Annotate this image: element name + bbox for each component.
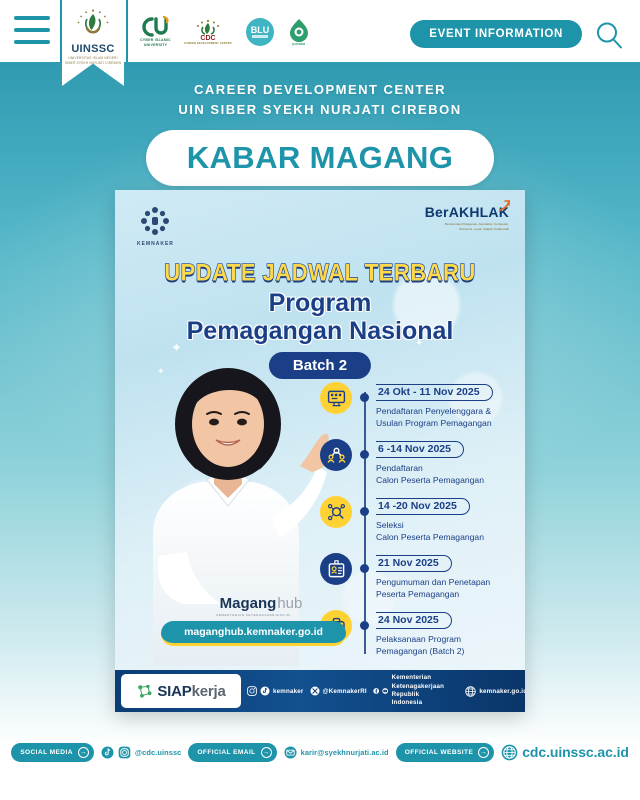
poster-footer-strip: SIAPkerja kemnak bbox=[115, 670, 525, 712]
partner-logo-row: CYBER ISLAMICUNIVERSITY CDC CAREER DEVEL… bbox=[140, 14, 310, 50]
id-card-icon-glyph bbox=[327, 560, 346, 579]
candidate-search-icon bbox=[320, 496, 352, 528]
sparkle-icon: ✦ bbox=[171, 340, 182, 356]
timeline-description: Pendaftaran Penyelenggara & Usulan Progr… bbox=[376, 405, 520, 429]
siap-light: kerja bbox=[192, 683, 226, 700]
poster-image[interactable]: KEMNAKER BerAKHLAK Berorientasi Pelayana… bbox=[115, 190, 525, 712]
logo-caption: CYBER ISLAMICUNIVERSITY bbox=[140, 38, 171, 48]
blu-icon: BLU bbox=[245, 17, 275, 47]
timeline-item: 24 Okt - 11 Nov 2025 Pendaftaran Penyele… bbox=[320, 382, 520, 434]
timeline-item: 14 -20 Nov 2025 Seleksi Calon Peserta Pe… bbox=[320, 496, 520, 548]
maganghub-url-pill[interactable]: maganghub.kemnaker.go.id bbox=[161, 621, 346, 646]
maganghub-logo: Magang hub bbox=[161, 595, 346, 612]
org-line-2: UIN SIBER SYEKH NURJATI CIREBON bbox=[0, 100, 640, 120]
maganghub-mark-icon bbox=[205, 597, 219, 611]
timeline-item: 24 Nov 2025 Pelaksanaan Program Pemagang… bbox=[320, 610, 520, 662]
tiktok-icon bbox=[101, 746, 114, 759]
kabar-magang-text: KABAR MAGANG bbox=[187, 140, 454, 176]
berakhlak-wordmark: BerAKHLAK bbox=[425, 204, 509, 220]
sparkle-icon: ✦ bbox=[415, 338, 423, 349]
timeline-description: Pendaftaran Calon Peserta Pemagangan bbox=[376, 462, 520, 486]
siapkerja-mark-icon bbox=[136, 683, 153, 700]
timeline-date: 24 Nov 2025 bbox=[376, 612, 452, 629]
program-title-line-2: Pemagangan Nasional bbox=[135, 318, 505, 346]
logo-cyber-islamic-university[interactable]: CYBER ISLAMICUNIVERSITY bbox=[140, 16, 171, 48]
page-footer: SOCIAL MEDIA → @cdc.uinssc OFFICIAL EMAI… bbox=[0, 735, 640, 769]
instagram-icon bbox=[118, 746, 131, 759]
logo-pusaka[interactable]: pusaka bbox=[288, 18, 310, 47]
globe-icon bbox=[501, 744, 518, 761]
arrow-right-icon: → bbox=[261, 747, 272, 758]
timeline-description: Seleksi Calon Peserta Pemagangan bbox=[376, 519, 520, 543]
berakhlak-logo: BerAKHLAK Berorientasi Pelayanan, Akunta… bbox=[425, 204, 509, 231]
monitor-icon-glyph bbox=[327, 389, 346, 408]
email-icon bbox=[284, 746, 297, 759]
organization-title: CAREER DEVELOPMENT CENTER UIN SIBER SYEK… bbox=[0, 80, 640, 119]
facebook-icon bbox=[373, 686, 379, 696]
timeline-description: Pelaksanaan Program Pemagangan (Batch 2) bbox=[376, 633, 520, 657]
siapkerja-logo: SIAPkerja bbox=[121, 674, 241, 708]
email-value: karir@syekhnurjati.ac.id bbox=[301, 748, 389, 757]
people-icon-glyph bbox=[327, 446, 346, 465]
timeline-item: 6 -14 Nov 2025 Pendaftaran Calon Peserta… bbox=[320, 439, 520, 491]
hamburger-bar bbox=[14, 28, 50, 32]
social-group-instagram-tiktok[interactable]: kemnaker bbox=[247, 686, 304, 696]
website-value: cdc.uinssc.ac.id bbox=[522, 744, 629, 760]
logo-blu[interactable]: BLU bbox=[245, 17, 275, 47]
nav-divider-right bbox=[126, 0, 128, 62]
social-media-pill[interactable]: SOCIAL MEDIA → bbox=[11, 743, 94, 762]
social-handle: @cdc.uinssc bbox=[135, 748, 182, 757]
social-media-label: SOCIAL MEDIA bbox=[20, 749, 73, 756]
svg-text:BLU: BLU bbox=[251, 25, 270, 35]
social-group-x[interactable]: @KemnakerRI bbox=[310, 686, 367, 696]
instagram-icon bbox=[247, 686, 257, 696]
timeline-dot bbox=[360, 564, 369, 573]
program-title-line-1: Program bbox=[135, 290, 505, 318]
maganghub-branding: Magang hub KEMENTERIAN KETENAGAKERJAAN R… bbox=[161, 595, 346, 646]
schedule-timeline: 24 Okt - 11 Nov 2025 Pendaftaran Penyele… bbox=[320, 382, 520, 667]
maganghub-name-light: hub bbox=[277, 595, 302, 612]
youtube-icon bbox=[382, 686, 388, 696]
update-banner-text: UPDATE JADWAL TERBARU bbox=[164, 259, 476, 287]
official-email-label: OFFICIAL EMAIL bbox=[197, 749, 255, 756]
id-card-icon bbox=[320, 553, 352, 585]
social-group-website[interactable]: kemnaker.go.id bbox=[465, 686, 525, 697]
kemnaker-icon bbox=[140, 206, 170, 236]
social-label: kemnaker bbox=[273, 688, 304, 695]
timeline-date: 21 Nov 2025 bbox=[376, 555, 452, 572]
logo-caption: pusaka bbox=[292, 42, 305, 47]
official-website-label: OFFICIAL WEBSITE bbox=[405, 749, 474, 756]
nav-divider-left bbox=[60, 0, 62, 62]
org-line-1: CAREER DEVELOPMENT CENTER bbox=[194, 82, 446, 97]
people-group-icon bbox=[320, 439, 352, 471]
globe-icon bbox=[465, 686, 476, 697]
cdc-icon: CDC bbox=[193, 18, 223, 42]
timeline-dot bbox=[360, 621, 369, 630]
social-handle-group[interactable]: @cdc.uinssc bbox=[101, 746, 182, 759]
program-title: Program Pemagangan Nasional bbox=[135, 290, 505, 345]
logo-caption: CAREER DEVELOPMENT CENTER bbox=[184, 42, 232, 46]
arrow-right-icon: → bbox=[478, 747, 489, 758]
event-information-button[interactable]: EVENT INFORMATION bbox=[410, 20, 582, 48]
timeline-dot bbox=[360, 393, 369, 402]
siapkerja-text: SIAPkerja bbox=[157, 683, 225, 700]
hamburger-bar bbox=[14, 40, 50, 44]
timeline-description: Pengumuman dan Penetapan Peserta Pemagan… bbox=[376, 576, 520, 600]
timeline-date: 14 -20 Nov 2025 bbox=[376, 498, 470, 515]
logo-cdc[interactable]: CDC CAREER DEVELOPMENT CENTER bbox=[184, 18, 232, 46]
social-label: Kementerian Ketenagakerjaan Republik Ind… bbox=[392, 674, 452, 707]
page-root: CYBER ISLAMICUNIVERSITY CDC CAREER DEVEL… bbox=[0, 0, 640, 800]
timeline-dot bbox=[360, 450, 369, 459]
social-label: @KemnakerRI bbox=[323, 688, 367, 695]
x-twitter-icon bbox=[310, 686, 320, 696]
uinssc-brand-name: UINSSC bbox=[71, 43, 114, 55]
kemnaker-logo: KEMNAKER bbox=[137, 206, 174, 247]
hamburger-menu-icon[interactable] bbox=[14, 16, 50, 44]
maganghub-name-bold: Magang bbox=[220, 595, 277, 612]
ciu-icon bbox=[140, 16, 170, 38]
poster-social-links: kemnaker @KemnakerRI bbox=[247, 670, 525, 712]
siap-bold: SIAP bbox=[157, 683, 191, 700]
timeline-dot bbox=[360, 507, 369, 516]
kemnaker-caption: KEMNAKER bbox=[137, 241, 174, 247]
maganghub-subtitle: KEMENTERIAN KETENAGAKERJAAN RI bbox=[161, 613, 346, 617]
pusaka-icon bbox=[288, 18, 310, 42]
website-value-group[interactable]: cdc.uinssc.ac.id bbox=[501, 744, 629, 761]
social-label: kemnaker.go.id bbox=[479, 688, 525, 695]
search-icon[interactable] bbox=[594, 20, 624, 50]
uinssc-logo-icon bbox=[76, 8, 110, 42]
official-email-pill[interactable]: OFFICIAL EMAIL → bbox=[188, 743, 276, 762]
berakhlak-tagline: Berorientasi Pelayanan, Akuntabel, Kompe… bbox=[425, 222, 509, 231]
update-banner: UPDATE JADWAL TERBARU bbox=[155, 260, 485, 286]
hamburger-bar bbox=[14, 16, 50, 20]
kabar-magang-headline: KABAR MAGANG bbox=[146, 130, 494, 186]
official-website-pill[interactable]: OFFICIAL WEBSITE → bbox=[396, 743, 495, 762]
timeline-date: 24 Okt - 11 Nov 2025 bbox=[376, 384, 493, 401]
monitor-registration-icon bbox=[320, 382, 352, 414]
hero-section: CAREER DEVELOPMENT CENTER UIN SIBER SYEK… bbox=[0, 62, 640, 800]
timeline-item: 21 Nov 2025 Pengumuman dan Penetapan Pes… bbox=[320, 553, 520, 605]
email-value-group[interactable]: karir@syekhnurjati.ac.id bbox=[284, 746, 389, 759]
tiktok-icon bbox=[260, 686, 270, 696]
social-group-facebook-youtube[interactable]: Kementerian Ketenagakerjaan Republik Ind… bbox=[373, 674, 452, 707]
candidate-search-icon-glyph bbox=[327, 503, 346, 522]
timeline-date: 6 -14 Nov 2025 bbox=[376, 441, 464, 458]
berakhlak-swoosh-icon bbox=[499, 200, 511, 212]
arrow-right-icon: → bbox=[78, 747, 89, 758]
